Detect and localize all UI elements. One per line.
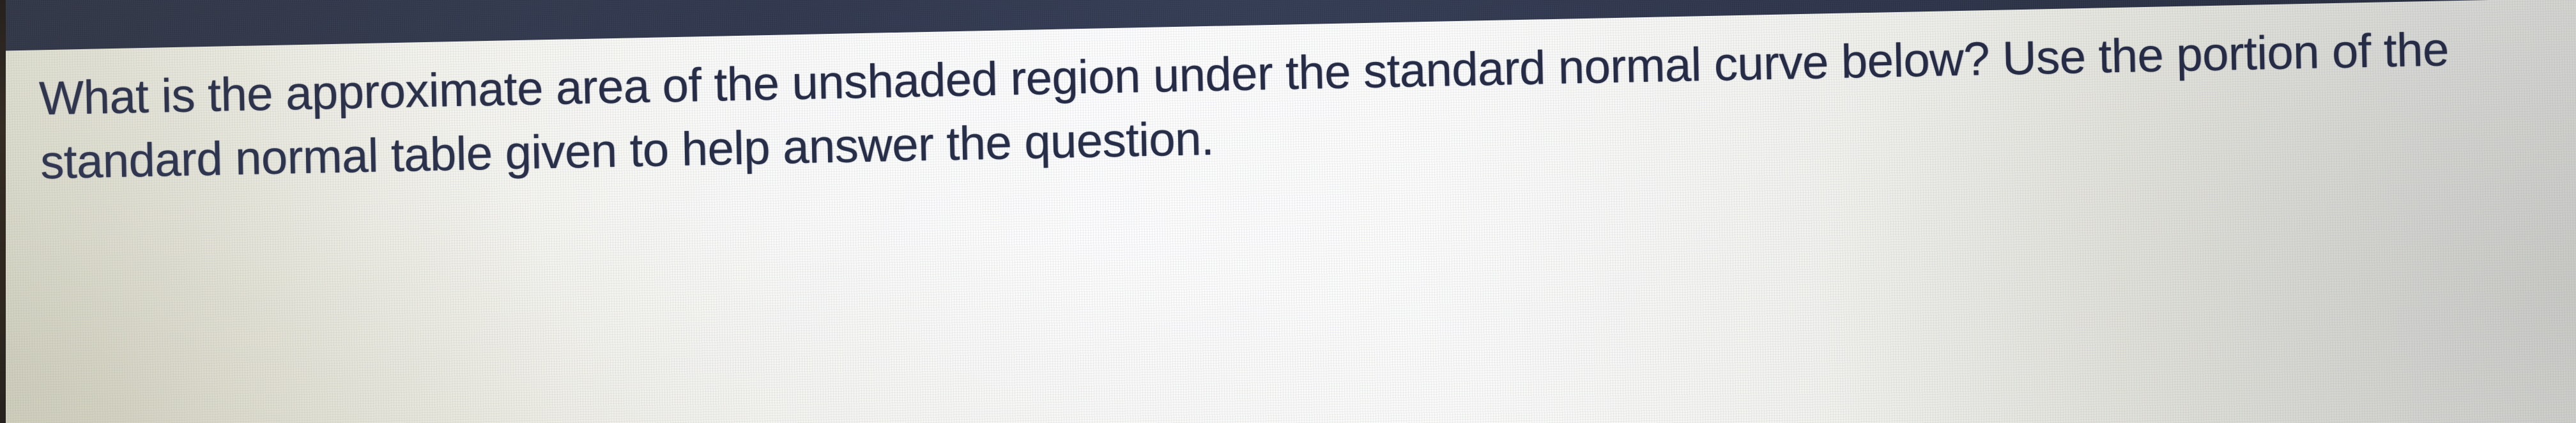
- screen-plane: What is the approximate area of the unsh…: [0, 0, 2576, 423]
- screen-bezel-left: [0, 0, 6, 423]
- screen-photograph: What is the approximate area of the unsh…: [0, 0, 2576, 423]
